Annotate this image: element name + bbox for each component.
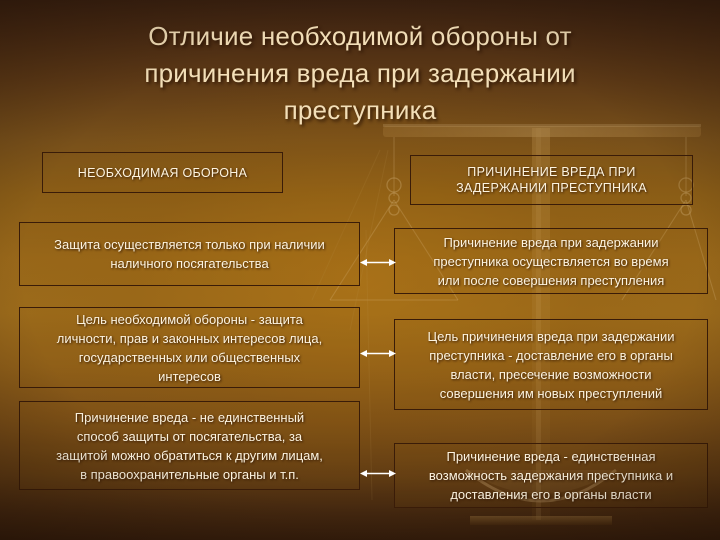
left-column-heading-text: НЕОБХОДИМАЯ ОБОРОНА: [49, 165, 276, 181]
right-item-3-box: Причинение вреда - единственная возможно…: [394, 443, 708, 508]
right-item-3-text: Причинение вреда - единственная возможно…: [401, 447, 701, 504]
left-item-3-text: Причинение вреда - не единственный спосо…: [26, 408, 353, 484]
right-item-1-box: Причинение вреда при задержании преступн…: [394, 228, 708, 294]
right-item-2-text: Цель причинения вреда при задержании пре…: [401, 327, 701, 403]
double-arrow-icon-3: [360, 468, 396, 479]
right-column-heading-text: ПРИЧИНЕНИЕ ВРЕДА ПРИ ЗАДЕРЖАНИИ ПРЕСТУПН…: [417, 164, 686, 196]
left-item-3-box: Причинение вреда - не единственный спосо…: [19, 401, 360, 490]
left-column-heading-box: НЕОБХОДИМАЯ ОБОРОНА: [42, 152, 283, 193]
slide-title: Отличие необходимой обороны от причинени…: [52, 18, 668, 129]
right-column-heading-box: ПРИЧИНЕНИЕ ВРЕДА ПРИ ЗАДЕРЖАНИИ ПРЕСТУПН…: [410, 155, 693, 205]
right-item-2-box: Цель причинения вреда при задержании пре…: [394, 319, 708, 410]
left-item-1-box: Защита осуществляется только при наличии…: [19, 222, 360, 286]
left-item-1-text: Защита осуществляется только при наличии…: [26, 235, 353, 273]
double-arrow-icon-2: [360, 348, 396, 359]
right-item-1-text: Причинение вреда при задержании преступн…: [401, 233, 701, 290]
slide-canvas: Отличие необходимой обороны от причинени…: [0, 0, 720, 540]
double-arrow-icon-1: [360, 257, 396, 268]
left-item-2-text: Цель необходимой обороны - защита личнос…: [26, 310, 353, 386]
left-item-2-box: Цель необходимой обороны - защита личнос…: [19, 307, 360, 388]
